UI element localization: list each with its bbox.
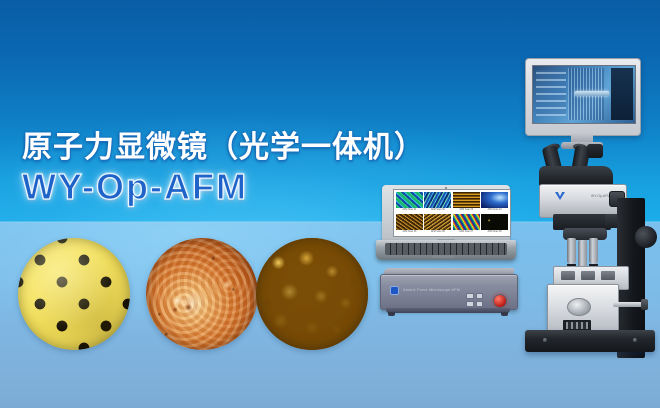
stage-slot xyxy=(601,271,615,280)
stage-slot xyxy=(581,271,595,280)
scan-thumbnail-caption: AFM Scan 02 xyxy=(424,208,451,212)
laptop-trackpad[interactable] xyxy=(432,255,454,258)
afm-sample-gold-grains xyxy=(256,238,368,350)
monitor-screen xyxy=(532,65,636,124)
base-screw xyxy=(633,338,637,342)
afm-controller-unit: Atomic Force Microscope AFM xyxy=(380,268,516,314)
trinocular-port xyxy=(587,144,603,158)
scan-thumbnail-image xyxy=(481,192,508,208)
base-screw xyxy=(543,338,547,342)
scan-thumbnail-caption: AFM Scan 03 xyxy=(453,208,480,212)
list-item[interactable]: AFM Scan 05 xyxy=(396,214,423,234)
scan-thumbnail-caption: AFM Scan 05 xyxy=(396,230,423,234)
scan-thumbnail-caption: AFM Scan 04 xyxy=(481,208,508,212)
page-title: 原子力显微镜（光学一体机） xyxy=(22,122,425,166)
objective-lens xyxy=(589,238,598,264)
controller-front-panel: Atomic Force Microscope AFM xyxy=(380,274,518,310)
controller-button[interactable] xyxy=(476,293,484,299)
objective-lens xyxy=(567,238,576,264)
stage-slot xyxy=(561,271,575,280)
scan-thumbnail-image xyxy=(481,214,508,230)
list-item[interactable]: AFM Scan 03 xyxy=(453,192,480,212)
cantilever-indicator xyxy=(575,91,609,96)
scan-thumbnail-caption: AFM Scan 07 xyxy=(453,230,480,234)
scan-thumbnail-image xyxy=(396,214,423,230)
list-item[interactable]: AFM Scan 02 xyxy=(424,192,451,212)
list-item[interactable]: AFM Scan 08 xyxy=(481,214,508,234)
stage-dial[interactable] xyxy=(567,298,591,316)
list-item[interactable]: AFM Scan 01 xyxy=(396,192,423,212)
controller-label: Atomic Force Microscope AFM xyxy=(403,287,460,293)
coarse-adjust-knob[interactable] xyxy=(635,226,657,248)
laptop-screen: AFM Scan 01 AFM Scan 02 AFM Scan 03 AFM … xyxy=(393,189,511,237)
scan-thumbnail-image xyxy=(453,192,480,208)
controller-button-grid[interactable] xyxy=(466,293,483,307)
optical-afm-microscope: WY-Op-AFM xyxy=(505,58,660,350)
microscope-monitor xyxy=(525,58,641,136)
afm-vignette xyxy=(256,238,368,350)
objective-lens xyxy=(578,240,587,268)
scan-thumbnail-image xyxy=(424,192,451,208)
afm-sample-dot-array xyxy=(18,238,130,350)
controller-button[interactable] xyxy=(466,293,474,299)
list-item[interactable]: AFM Scan 04 xyxy=(481,192,508,212)
controller-button[interactable] xyxy=(476,301,484,307)
scan-thumbnail-image xyxy=(424,214,451,230)
microscope-arm-label: WY-Op-AFM xyxy=(591,194,610,198)
list-item[interactable]: AFM Scan 07 xyxy=(453,214,480,234)
software-panel-right xyxy=(611,68,633,120)
afm-vignette xyxy=(18,238,130,350)
laptop-lid: AFM Scan 01 AFM Scan 02 AFM Scan 03 AFM … xyxy=(382,185,510,243)
software-panel-left xyxy=(536,70,566,116)
controller-foot xyxy=(388,312,395,316)
product-banner: 原子力显微镜（光学一体机） WY-Op-AFM AFM Scan 01 AFM … xyxy=(0,0,660,408)
sample-plate-grating xyxy=(566,322,588,329)
scan-thumbnail-caption: AFM Scan 08 xyxy=(481,230,508,234)
scan-thumbnail-image xyxy=(453,214,480,230)
scan-thumbnail-caption: AFM Scan 01 xyxy=(396,208,423,212)
scan-thumbnail-image xyxy=(396,192,423,208)
controller-button[interactable] xyxy=(466,301,474,307)
brand-logo-icon xyxy=(390,286,399,295)
analysis-laptop: AFM Scan 01 AFM Scan 02 AFM Scan 03 AFM … xyxy=(376,185,516,260)
product-model-title: WY-Op-AFM xyxy=(22,166,248,208)
laptop-keyboard[interactable] xyxy=(385,243,507,255)
list-item[interactable]: AFM Scan 06 xyxy=(424,214,451,234)
controller-base xyxy=(386,308,510,313)
afm-sample-spiral-growth xyxy=(146,238,258,350)
afm-vignette xyxy=(146,238,258,350)
scan-thumbnail-caption: AFM Scan 06 xyxy=(424,230,451,234)
stage-rod-cap xyxy=(641,299,648,310)
